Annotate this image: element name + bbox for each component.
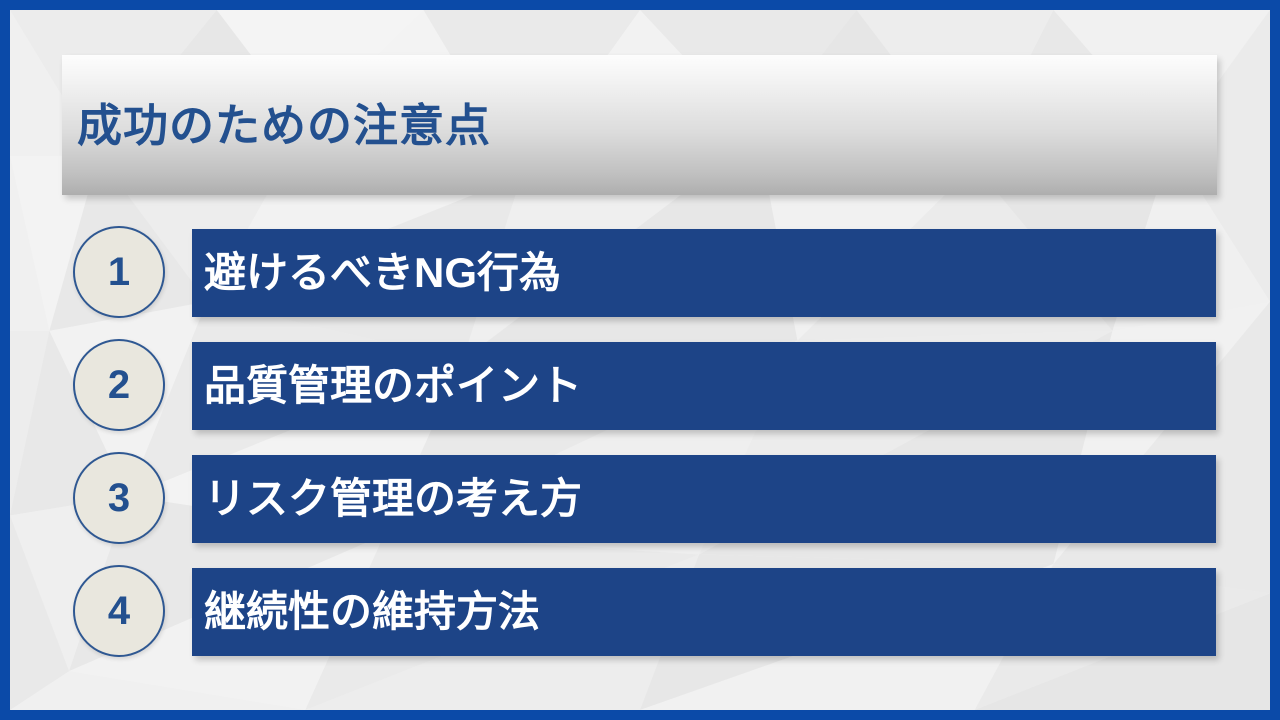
item-label: リスク管理の考え方 — [204, 478, 582, 520]
item-label: 品質管理のポイント — [204, 365, 582, 407]
item-number-label: 3 — [108, 478, 130, 518]
item-label: 継続性の維持方法 — [204, 591, 540, 633]
item-number-label: 4 — [108, 591, 130, 631]
item-bar[interactable]: 品質管理のポイント — [192, 342, 1216, 430]
list-item[interactable]: 4 継続性の維持方法 — [10, 568, 1270, 656]
item-bar[interactable]: 継続性の維持方法 — [192, 568, 1216, 656]
item-number-label: 2 — [108, 365, 130, 405]
list-item[interactable]: 1 避けるべきNG行為 — [10, 229, 1270, 317]
item-number-badge: 1 — [73, 226, 165, 318]
numbered-item-list: 1 避けるべきNG行為 2 品質管理のポイント 3 リスク管理の考え方 — [10, 229, 1270, 681]
item-number-badge: 2 — [73, 339, 165, 431]
page-title: 成功のための注意点 — [77, 103, 491, 148]
slide-title-banner: 成功のための注意点 — [62, 55, 1217, 195]
item-bar[interactable]: 避けるべきNG行為 — [192, 229, 1216, 317]
item-label: 避けるべきNG行為 — [204, 252, 561, 294]
item-bar[interactable]: リスク管理の考え方 — [192, 455, 1216, 543]
slide-canvas: 成功のための注意点 1 避けるべきNG行為 2 品質管理のポイント 3 リスク管 — [0, 0, 1280, 720]
item-number-badge: 3 — [73, 452, 165, 544]
item-number-label: 1 — [108, 252, 130, 292]
list-item[interactable]: 2 品質管理のポイント — [10, 342, 1270, 430]
item-number-badge: 4 — [73, 565, 165, 657]
list-item[interactable]: 3 リスク管理の考え方 — [10, 455, 1270, 543]
